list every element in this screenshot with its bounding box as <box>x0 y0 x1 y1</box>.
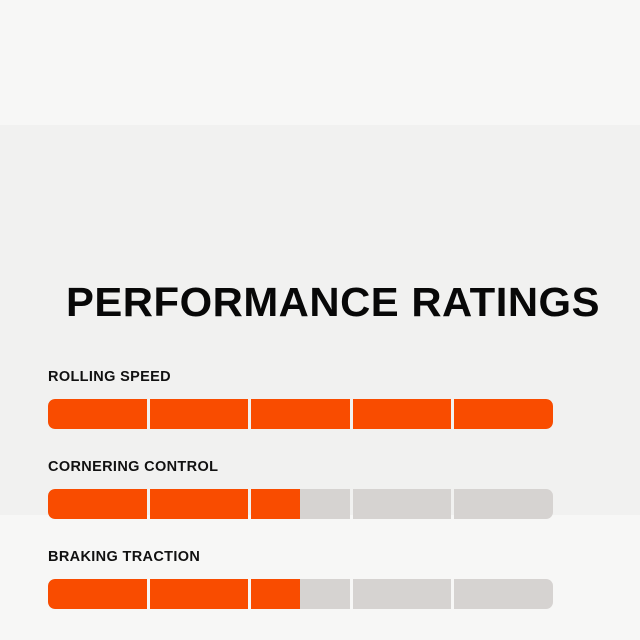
rating-segment <box>150 579 249 609</box>
rating-segment-fill <box>150 579 249 609</box>
rating-segment <box>353 489 452 519</box>
rating-segment <box>454 579 553 609</box>
rating-segment <box>251 399 350 429</box>
rating-segment <box>48 399 147 429</box>
rating-row: CORNERING CONTROL <box>48 459 553 519</box>
rating-segment-fill <box>48 399 147 429</box>
rating-segment-fill <box>48 579 147 609</box>
rating-row: BRAKING TRACTION <box>48 549 553 609</box>
rating-segment <box>353 399 452 429</box>
rating-label: ROLLING SPEED <box>48 369 553 386</box>
rating-segment-fill <box>251 579 300 609</box>
rating-segment <box>353 579 452 609</box>
page-title: PERFORMANCE RATINGS <box>66 281 600 323</box>
rating-segment <box>454 489 553 519</box>
performance-ratings-card: PERFORMANCE RATINGS ROLLING SPEEDCORNERI… <box>0 125 640 515</box>
rating-segment-fill <box>251 489 300 519</box>
rating-bar <box>48 399 553 429</box>
ratings-list: ROLLING SPEEDCORNERING CONTROLBRAKING TR… <box>48 369 553 609</box>
rating-segment-fill <box>454 399 553 429</box>
rating-row: ROLLING SPEED <box>48 369 553 429</box>
rating-segment-fill <box>150 399 249 429</box>
rating-segment-fill <box>251 399 350 429</box>
rating-segment <box>48 579 147 609</box>
rating-label: BRAKING TRACTION <box>48 549 553 566</box>
rating-label: CORNERING CONTROL <box>48 459 553 476</box>
rating-segment <box>150 399 249 429</box>
rating-segment-fill <box>353 399 452 429</box>
rating-segment <box>150 489 249 519</box>
rating-segment-fill <box>150 489 249 519</box>
rating-segment <box>454 399 553 429</box>
rating-segment <box>251 489 350 519</box>
rating-segment <box>48 489 147 519</box>
screenshot-canvas: PERFORMANCE RATINGS ROLLING SPEEDCORNERI… <box>0 0 640 640</box>
rating-bar <box>48 579 553 609</box>
rating-bar <box>48 489 553 519</box>
rating-segment <box>251 579 350 609</box>
rating-segment-fill <box>48 489 147 519</box>
